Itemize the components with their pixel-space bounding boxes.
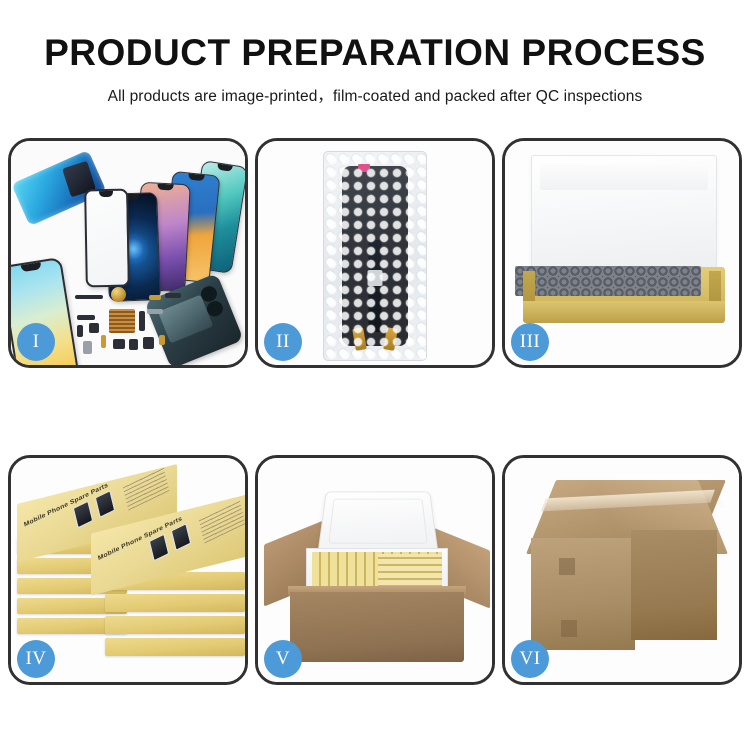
step-panel-5[interactable]: V (255, 455, 495, 685)
gold-contact-right-icon (383, 327, 398, 351)
carton-seam-lower (561, 620, 577, 637)
carton-front-face (531, 538, 635, 650)
bubble-wrap-package-icon (323, 151, 427, 361)
step-badge-5: V (264, 640, 302, 678)
step-panel-2[interactable]: II (255, 138, 495, 368)
carton-front-panel (290, 592, 464, 662)
step-panel-4[interactable]: Mobile Phone Spare Parts Mobile Phone Sp… (8, 455, 248, 685)
connector-icon (368, 270, 383, 286)
bubble-wrapped-contents-icon (515, 266, 701, 296)
step-panel-6[interactable]: VI (502, 455, 742, 685)
box-stack-group: Mobile Phone Spare Parts Mobile Phone Sp… (17, 476, 245, 676)
white-foam-lid-icon (531, 155, 717, 275)
page-title: PRODUCT PREPARATION PROCESS (0, 32, 750, 75)
step-badge-4: IV (17, 640, 55, 678)
carton-side-face (631, 530, 717, 640)
foam-lid-open-icon (317, 492, 438, 553)
step-panel-3[interactable]: III (502, 138, 742, 368)
spare-parts-group (73, 289, 193, 361)
tray-front-panel (523, 301, 725, 323)
open-carton-group (278, 486, 476, 664)
product-preparation-infographic: PRODUCT PREPARATION PROCESS All products… (0, 0, 750, 750)
steps-grid: I II (8, 138, 742, 685)
carton-seam-upper (559, 558, 575, 575)
header: PRODUCT PREPARATION PROCESS All products… (0, 32, 750, 106)
step-panel-1[interactable]: I (8, 138, 248, 368)
phone-front-glass-icon (84, 189, 130, 288)
sealed-carton-group (527, 480, 723, 664)
flex-cable-icon (369, 240, 382, 332)
step-badge-3: III (511, 323, 549, 361)
step-badge-2: II (264, 323, 302, 361)
page-subtitle: All products are image-printed，film-coat… (0, 84, 750, 106)
pink-label-icon (358, 164, 370, 172)
step-badge-1: I (17, 323, 55, 361)
step-badge-6: VI (511, 640, 549, 678)
